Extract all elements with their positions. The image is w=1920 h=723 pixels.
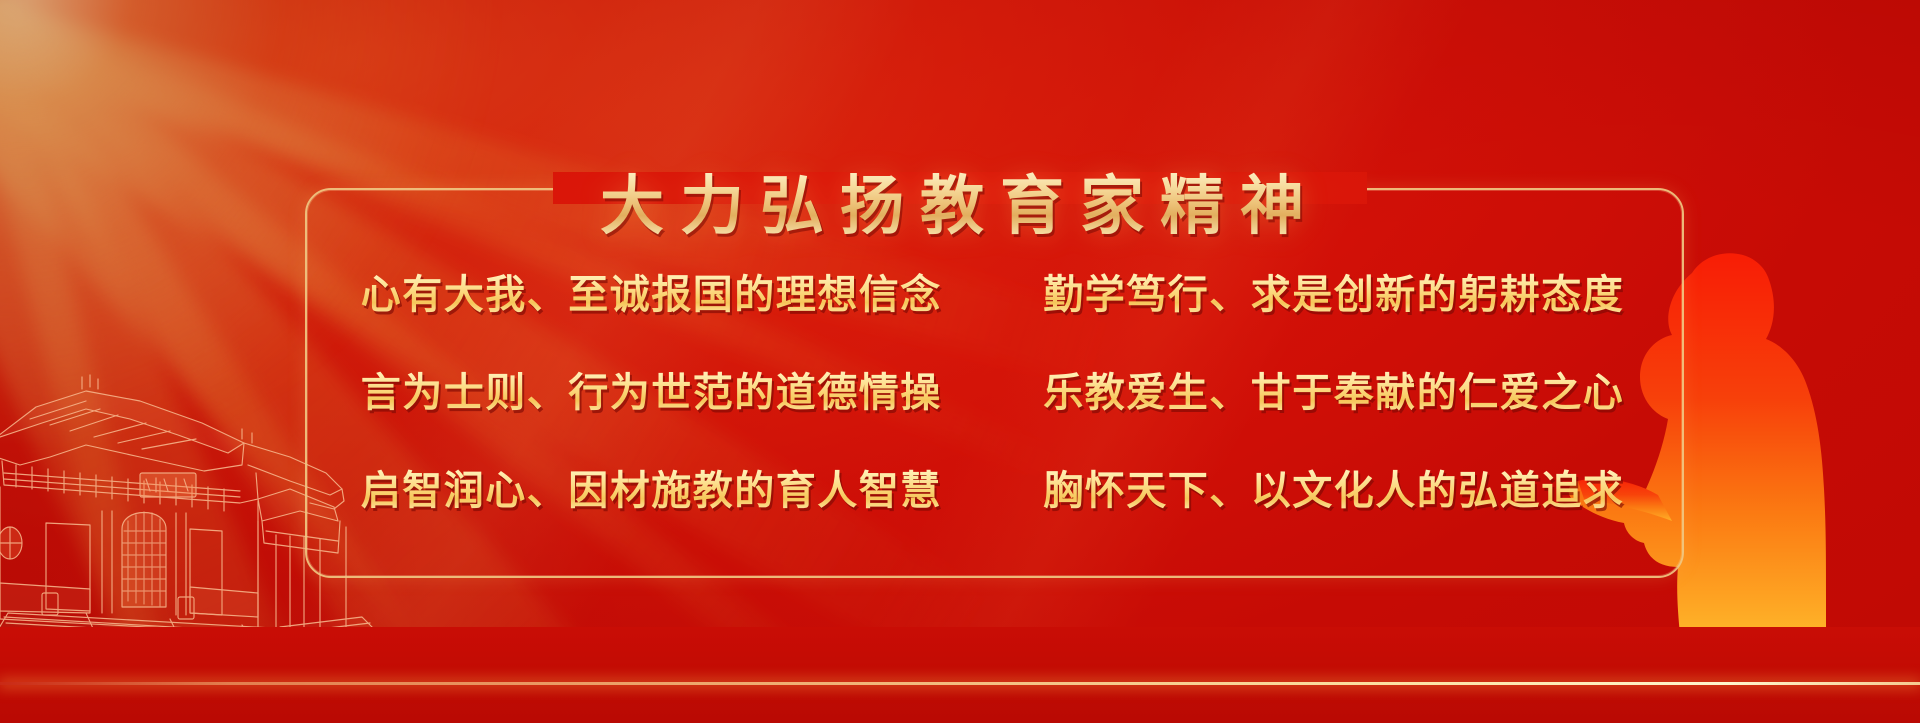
bottom-accent-line xyxy=(0,682,1920,685)
slogan-item: 胸怀天下、以文化人的弘道追求 xyxy=(998,458,1637,516)
slogan-item: 乐教爱生、甘于奉献的仁爱之心 xyxy=(998,360,1637,418)
slogan-item: 言为士则、行为世范的道德情操 xyxy=(349,360,988,418)
slogan-grid: 心有大我、至诚报国的理想信念 勤学笃行、求是创新的躬耕态度 言为士则、行为世范的… xyxy=(305,216,1680,546)
education-spirit-banner: 大力弘扬教育家精神 心有大我、至诚报国的理想信念 勤学笃行、求是创新的躬耕态度 … xyxy=(0,0,1920,723)
slogan-item: 启智润心、因材施教的育人智慧 xyxy=(349,458,988,516)
slogan-item: 勤学笃行、求是创新的躬耕态度 xyxy=(998,262,1637,320)
heading-frame-notch xyxy=(553,172,1367,204)
bottom-strip xyxy=(0,627,1920,723)
slogan-item: 心有大我、至诚报国的理想信念 xyxy=(349,262,988,320)
